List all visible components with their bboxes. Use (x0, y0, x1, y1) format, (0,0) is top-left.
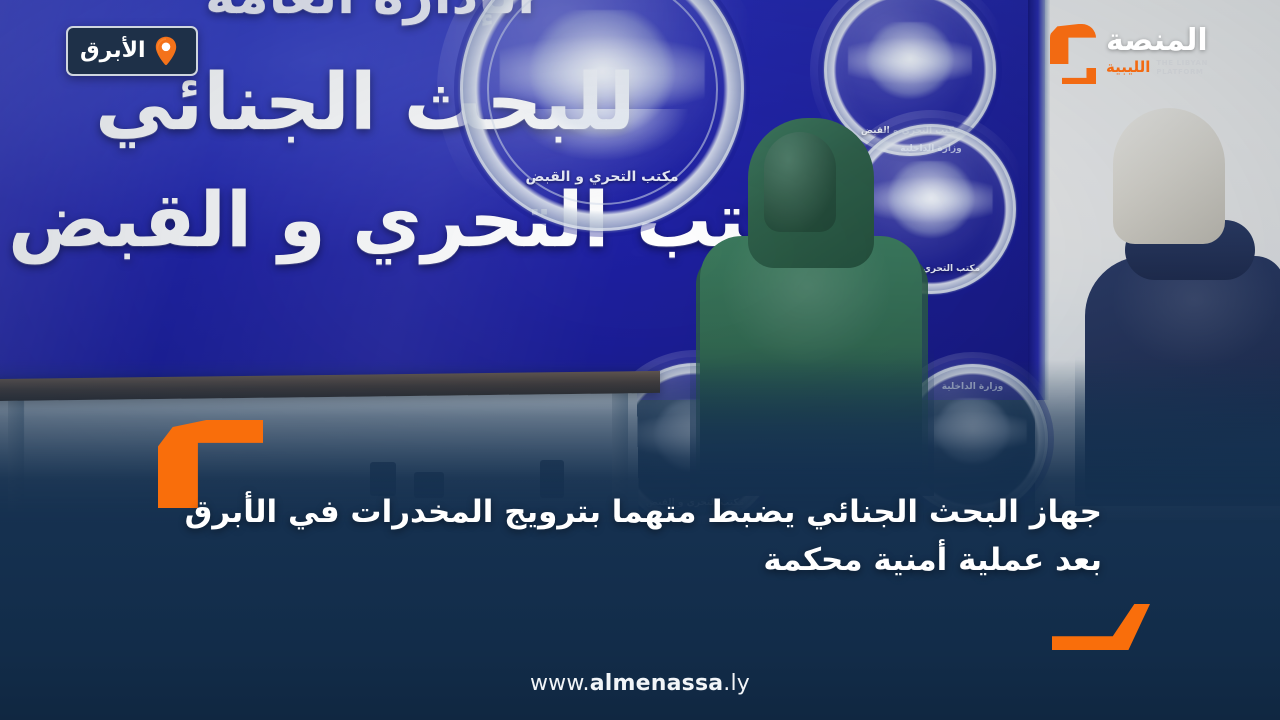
logo-hook-shape (1050, 24, 1096, 64)
logo-english-text: THE LIBYAN PLATFORM (1156, 59, 1208, 77)
website-url[interactable]: www.almenassa.ly (0, 671, 1280, 696)
logo-arabic-primary: المنصة (1106, 26, 1208, 56)
headline-line-2: بعد عملية أمنية محكمة (162, 536, 1102, 584)
logo-english-line1: THE LIBYAN (1156, 59, 1208, 68)
logo-tick-shape (1062, 68, 1096, 84)
map-pin-icon (154, 36, 178, 66)
news-card: الإدارة العامة للبحث الجنائي مكتب التحري… (0, 0, 1280, 720)
url-suffix: .ly (723, 671, 750, 696)
logo-subline: THE LIBYAN PLATFORM الليبية (1106, 59, 1208, 77)
logo-english-line2: PLATFORM (1156, 68, 1208, 77)
almenassa-bracket-mark-icon (1044, 20, 1106, 82)
logo-wordmark: المنصة THE LIBYAN PLATFORM الليبية (1106, 18, 1234, 84)
logo-arabic-secondary: الليبية (1106, 60, 1150, 75)
location-label: الأبرق (80, 40, 146, 62)
headline: جهاز البحث الجنائي يضبط متهما بترويج الم… (162, 488, 1102, 584)
url-prefix: www. (530, 671, 590, 696)
location-badge[interactable]: الأبرق (66, 26, 198, 76)
url-brand: almenassa (590, 671, 724, 696)
headline-line-1: جهاز البحث الجنائي يضبط متهما بترويج الم… (185, 494, 1102, 530)
almenassa-logo[interactable]: المنصة THE LIBYAN PLATFORM الليبية (1044, 14, 1234, 88)
